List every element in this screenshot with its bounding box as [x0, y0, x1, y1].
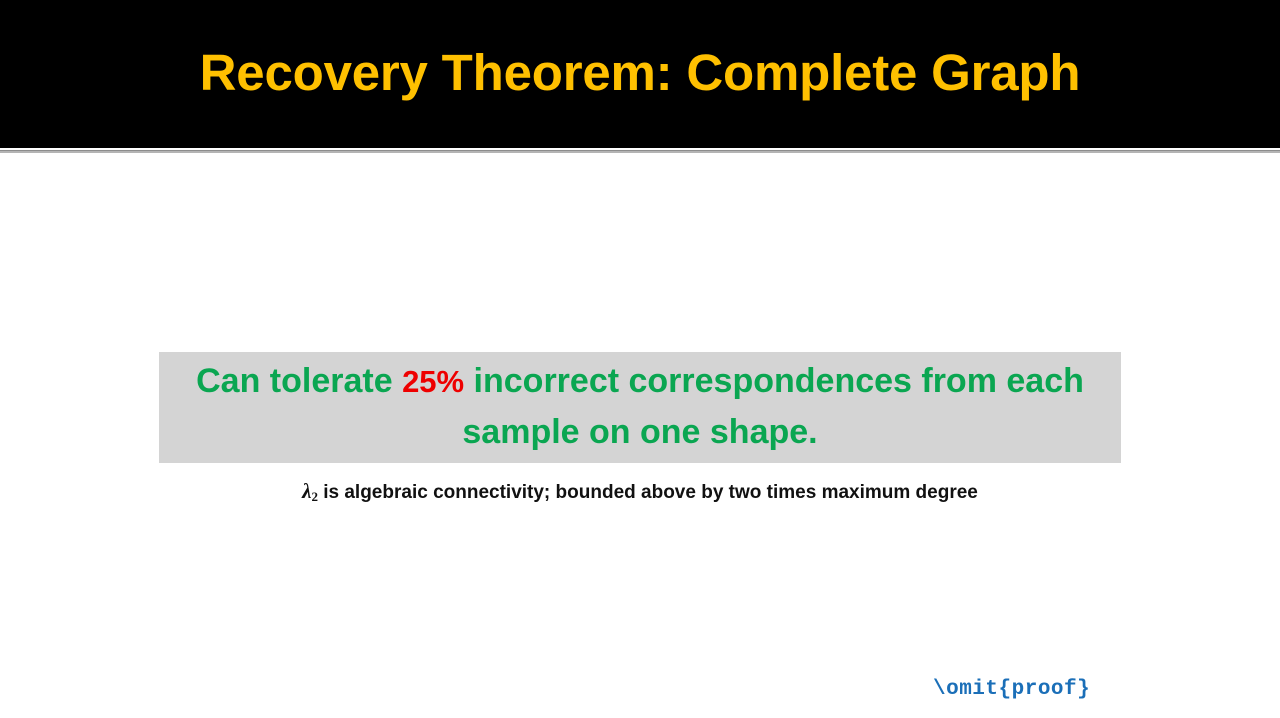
callout-box: Can tolerate 25% incorrect correspondenc… — [159, 352, 1121, 463]
callout-percent-highlight: 25% — [402, 364, 464, 399]
page-title: Recovery Theorem: Complete Graph — [200, 47, 1081, 98]
callout-text: Can tolerate 25% incorrect correspondenc… — [180, 356, 1100, 458]
callout-text-part-1: Can tolerate — [196, 362, 402, 400]
lambda-symbol: λ2 — [302, 479, 318, 503]
title-divider — [0, 150, 1280, 153]
footnote-text: is algebraic connectivity; bounded above… — [318, 482, 978, 503]
footnote-line: λ2 is algebraic connectivity; bounded ab… — [0, 478, 1280, 510]
slide-title-bar: Recovery Theorem: Complete Graph — [0, 0, 1280, 148]
callout-text-part-2: incorrect correspondences from each samp… — [462, 362, 1084, 451]
omit-proof-annotation: \omit{proof} — [933, 678, 1090, 701]
